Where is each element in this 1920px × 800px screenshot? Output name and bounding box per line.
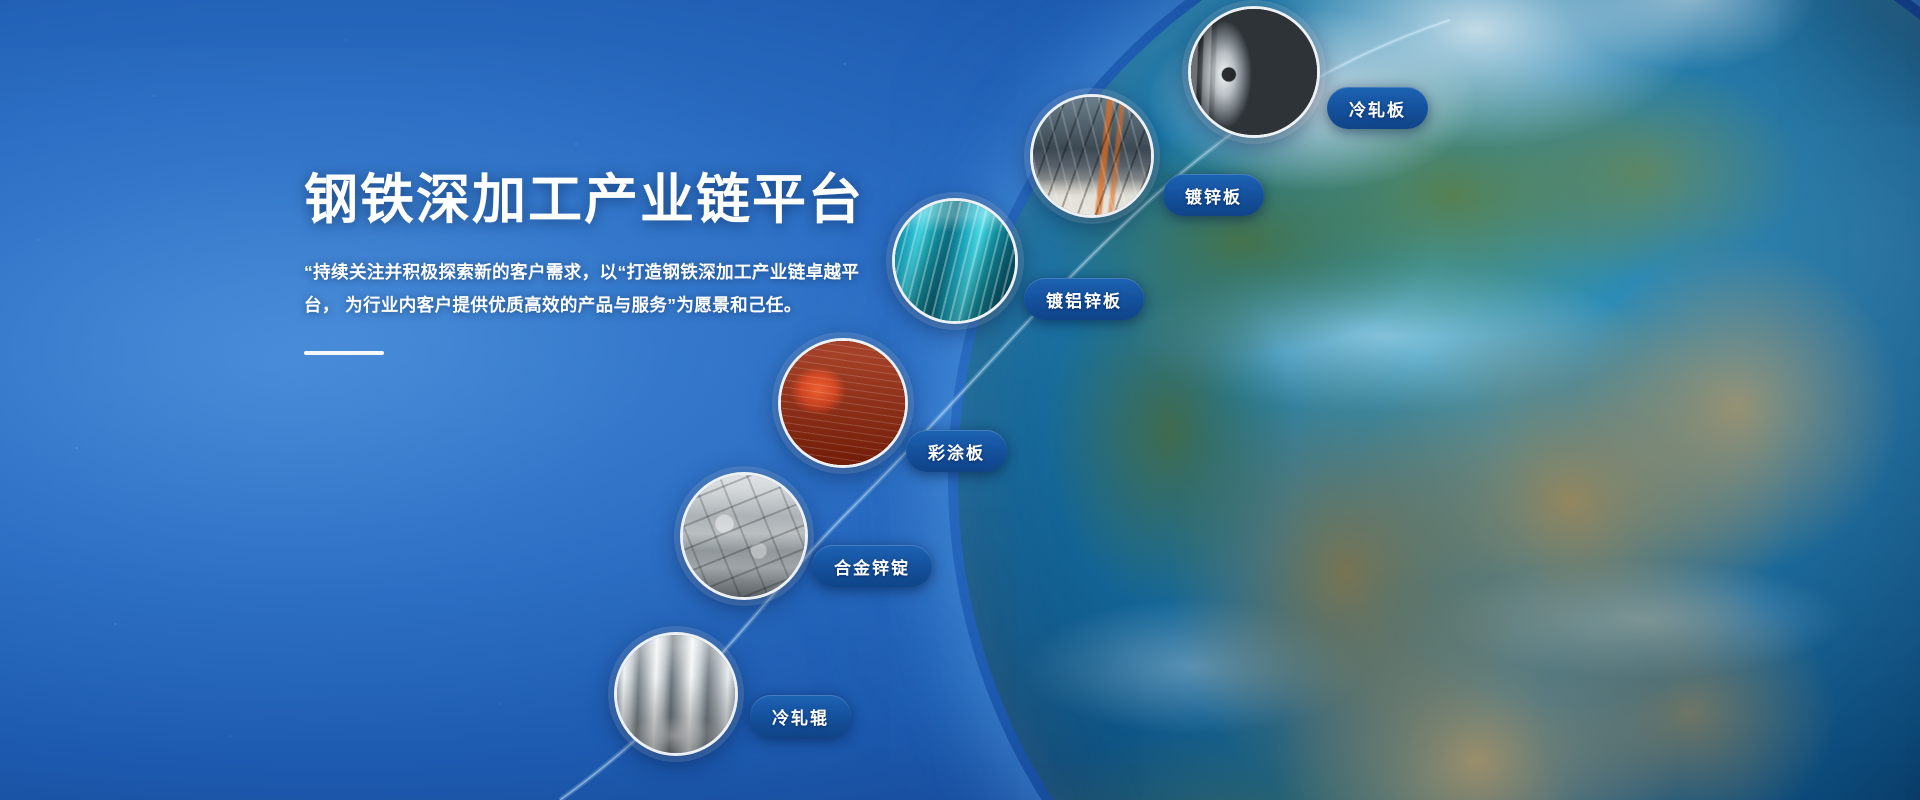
hero-banner: 钢铁深加工产业链平台 “持续关注并积极探索新的客户需求，以“打造钢铁深加工产业链… (0, 0, 1920, 800)
starfield-layer (0, 0, 1920, 800)
starfield-layer-secondary (0, 0, 1920, 800)
hero-copy: 钢铁深加工产业链平台 “持续关注并积极探索新的客户需求，以“打造钢铁深加工产业链… (304, 170, 924, 355)
product-label-cold-rolled-plate[interactable]: 冷轧板 (1327, 87, 1428, 129)
product-label-aluzinc-plate[interactable]: 镀铝锌板 (1024, 278, 1144, 320)
page-title: 钢铁深加工产业链平台 (304, 170, 924, 230)
title-divider (304, 351, 384, 355)
galvanized-warehouse-image (1033, 97, 1151, 215)
hero-subtitle: “持续关注并积极探索新的客户需求，以“打造钢铁深加工产业链卓越平台， 为行业内客… (304, 256, 874, 321)
product-thumb-zinc-alloy-ingot[interactable] (680, 472, 808, 600)
hero-subtitle-line-2: 为行业内客户提供优质高效的产品与服务”为愿景和己任。 (345, 295, 802, 315)
connector-arc (0, 0, 1920, 800)
aluzinc-sheets-image (895, 201, 1015, 321)
cold-rolling-rolls-image (617, 635, 735, 753)
zinc-alloy-ingots-image (683, 475, 805, 597)
steel-coils-image (1191, 9, 1317, 135)
product-label-galvanized-plate[interactable]: 镀锌板 (1163, 174, 1264, 216)
product-label-zinc-alloy-ingot[interactable]: 合金锌锭 (812, 545, 932, 587)
product-thumb-aluzinc-plate[interactable] (892, 198, 1018, 324)
product-thumb-cold-rolled-plate[interactable] (1188, 6, 1320, 138)
product-thumb-galvanized-plate[interactable] (1030, 94, 1154, 218)
color-coated-coils-image (781, 341, 905, 465)
product-thumb-cold-rolling-roll[interactable] (614, 632, 738, 756)
product-label-color-coated-plate[interactable]: 彩涂板 (906, 430, 1007, 472)
product-thumb-color-coated-plate[interactable] (778, 338, 908, 468)
product-label-cold-rolling-roll[interactable]: 冷轧辊 (750, 695, 851, 737)
